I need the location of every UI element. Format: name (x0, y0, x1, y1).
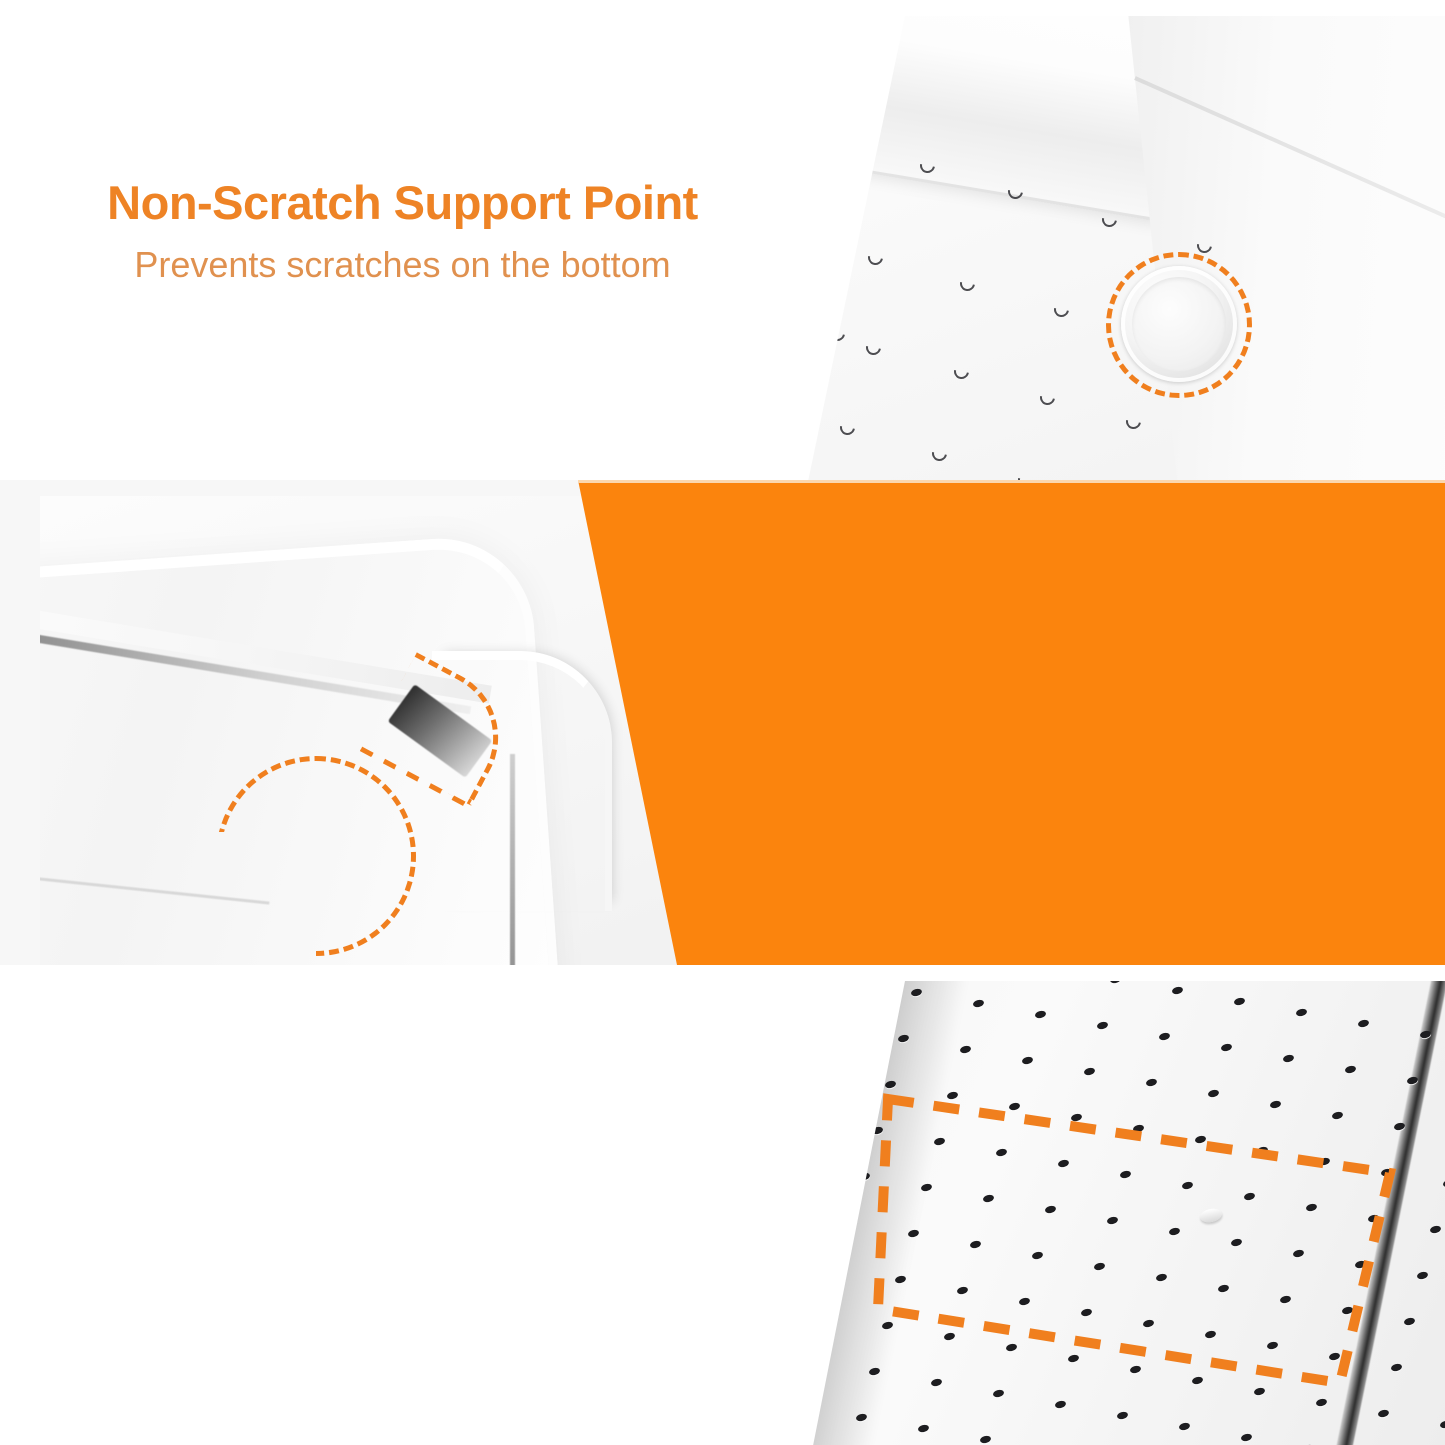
perforation-hole (1123, 411, 1144, 432)
perforation-dot (979, 1435, 991, 1444)
panel-1-text-block: Non-Scratch Support Point Prevents scrat… (0, 178, 805, 286)
perforation-dot (835, 1023, 847, 1032)
orange-top-rule (578, 480, 1445, 483)
perforation-hole (957, 273, 978, 294)
perforation-dot (819, 1310, 831, 1319)
panel-non-scratch-support-point: Non-Scratch Support Point Prevents scrat… (0, 0, 1445, 480)
perforation-dot (1158, 1032, 1170, 1041)
perforation-dot (822, 1069, 834, 1078)
tray-ridge (40, 981, 259, 1445)
perforation-dot (796, 1161, 808, 1170)
panel-1-subline: Prevents scratches on the bottom (0, 243, 805, 286)
perforation-hole (827, 323, 848, 344)
dashed-circle-annotation-icon (1106, 252, 1252, 398)
panel-pet-plastic: PET Plastic ultra-sturdy, so will not cr… (0, 965, 1445, 1445)
bin-vertical-edge (510, 754, 515, 965)
perforation-dot (1116, 1411, 1128, 1420)
perforation-dot (1083, 1067, 1095, 1076)
perforation-dot (848, 981, 860, 986)
photo-pet-plastic (40, 981, 1445, 1445)
perforation-dot (1429, 1225, 1441, 1234)
perforation-dot (1054, 1400, 1066, 1409)
perforation-dot (1240, 1433, 1252, 1442)
perforation-dot (959, 1045, 971, 1054)
perforation-dot (1233, 997, 1245, 1006)
perforation-dot (1034, 1010, 1046, 1019)
perforation-dot (832, 1264, 844, 1273)
perforation-dot (1295, 1008, 1307, 1017)
perforation-dot (1171, 986, 1183, 995)
perforation-hole (951, 361, 972, 382)
perforation-hole (863, 337, 884, 358)
perforation-hole (1015, 469, 1036, 480)
perforation-dot (806, 1356, 818, 1365)
perforation-dot (747, 1104, 759, 1113)
perforation-hole (837, 417, 858, 438)
perforation-dot (744, 1345, 756, 1354)
perforation-dot (1344, 1065, 1356, 1074)
perforation-dot (770, 1253, 782, 1262)
perforation-dot (1416, 1271, 1428, 1280)
perforation-dot (809, 1115, 821, 1124)
perforation-dot (757, 1299, 769, 1308)
perforation-dot (1178, 1422, 1190, 1431)
perforation-dot (1096, 1021, 1108, 1030)
perforation-dot (1021, 1056, 1033, 1065)
perforation-dot (845, 1218, 857, 1227)
perforation-dot (760, 1058, 772, 1067)
perforation-dot (917, 1424, 929, 1433)
panel-1-headline: Non-Scratch Support Point (0, 178, 805, 229)
perforation-dot (1439, 1420, 1445, 1429)
perforation-dot (972, 999, 984, 1008)
perforation-hole (1051, 299, 1072, 320)
perforation-dot (783, 1207, 795, 1216)
perforation-dot (1220, 1043, 1232, 1052)
infographic-sheet: Non-Scratch Support Point Prevents scrat… (0, 0, 1445, 1445)
perforation-dot (1109, 981, 1121, 984)
perforation-hole (865, 247, 886, 268)
panel-round-corner-design: Round Corner Design Will not scratch the… (0, 480, 1445, 965)
perforation-hole (929, 443, 950, 464)
perforation-dot (793, 1402, 805, 1411)
perforation-dot (1282, 1054, 1294, 1063)
perforation-dot (1357, 1019, 1369, 1028)
container-sidewall (1125, 16, 1445, 480)
perforation-hole (1037, 387, 1058, 408)
perforation-dot (773, 1012, 785, 1021)
dashed-quadrilateral-annotation-icon (870, 1081, 1410, 1401)
perforation-dot (1377, 1409, 1389, 1418)
